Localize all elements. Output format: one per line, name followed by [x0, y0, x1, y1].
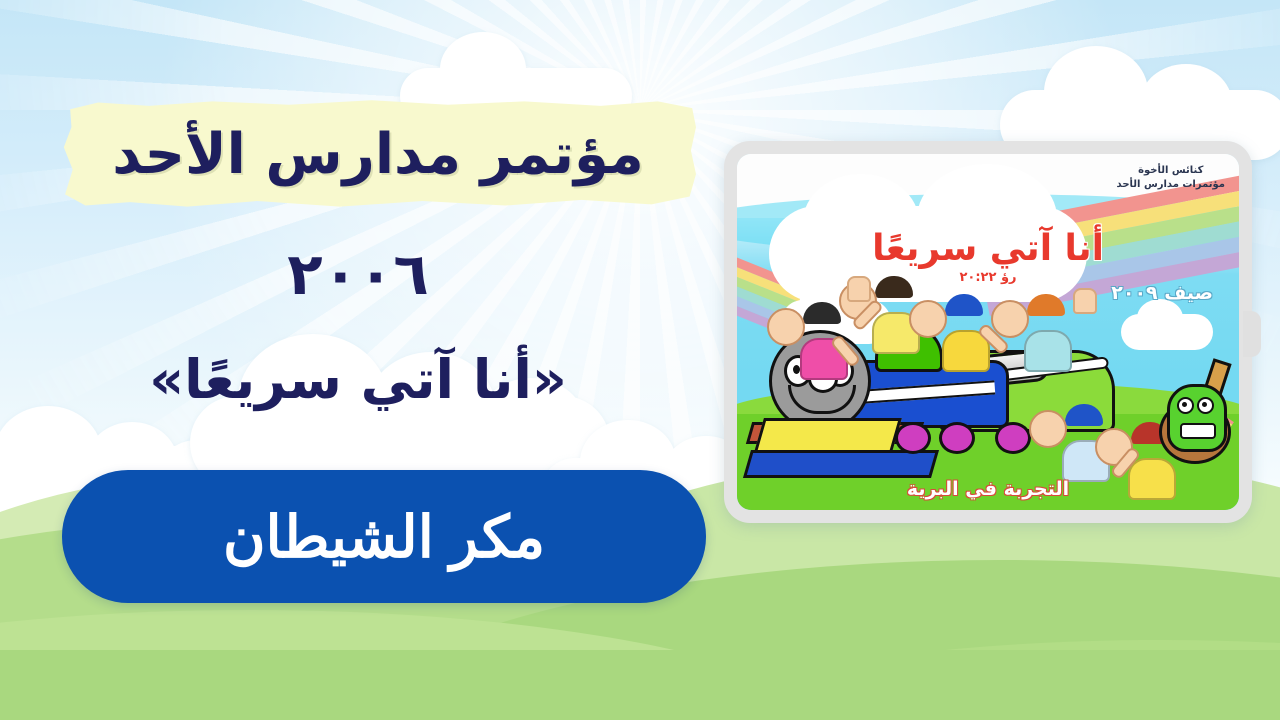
guitar-icon [1157, 372, 1233, 464]
cover-season: صيف ٢٠٠٩ [1111, 282, 1213, 304]
cover-publisher-line-2: مؤتمرات مدارس الأحد [1117, 178, 1225, 192]
book-cover-frame[interactable]: كنائس الأخوة مؤتمرات مدارس الأحد أنا آتي… [724, 141, 1252, 523]
conference-year: ٢٠٠٦ [0, 240, 716, 308]
text-column: مؤتمر مدارس الأحد ٢٠٠٦ «أنا آتي سريعًا» … [0, 0, 716, 720]
cover-title: أنا آتي سريعًا [737, 228, 1239, 269]
cover-caption: التجربة في البرية [737, 478, 1239, 500]
slide-canvas: مؤتمر مدارس الأحد ٢٠٠٦ «أنا آتي سريعًا» … [0, 0, 1280, 720]
cover-publisher: كنائس الأخوة مؤتمرات مدارس الأحد [1117, 164, 1225, 191]
title-banner: مؤتمر مدارس الأحد [60, 98, 696, 210]
page-title: مؤتمر مدارس الأحد [60, 98, 696, 210]
cover-publisher-line-1: كنائس الأخوة [1117, 164, 1225, 178]
cloud-icon [1121, 314, 1213, 350]
conference-theme: «أنا آتي سريعًا» [0, 348, 716, 411]
lesson-title-label: مكر الشيطان [223, 503, 545, 571]
lesson-title-button[interactable]: مكر الشيطان [62, 470, 706, 603]
book-cover-image: كنائس الأخوة مؤتمرات مدارس الأحد أنا آتي… [737, 154, 1239, 510]
